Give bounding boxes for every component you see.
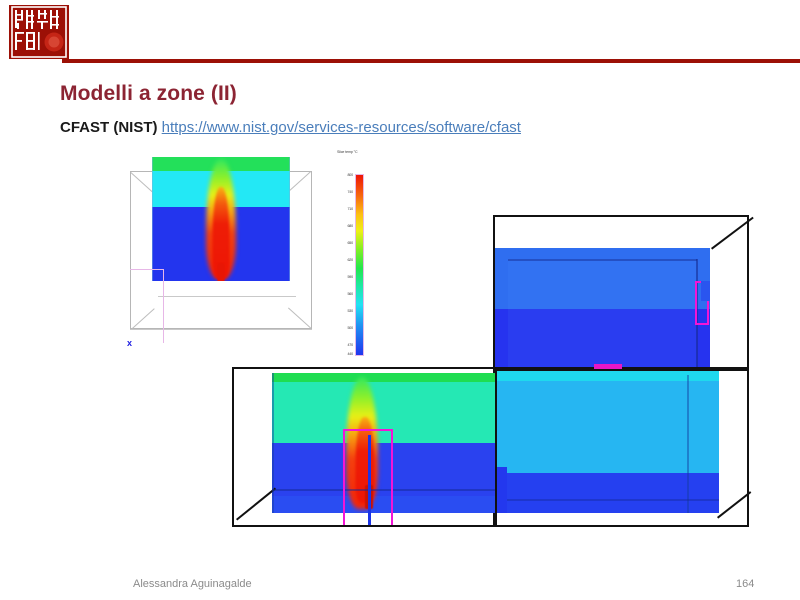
colorbar-tick-10: 470 bbox=[336, 343, 353, 347]
header-divider bbox=[62, 59, 800, 63]
lower-left-hot-layer bbox=[272, 373, 495, 382]
colorbar-tick-2: 710 bbox=[336, 207, 353, 211]
colorbar-tick-6: 590 bbox=[336, 275, 353, 279]
colorbar-tick-1: 740 bbox=[336, 190, 353, 194]
cfast-lower-right-room bbox=[495, 367, 749, 527]
colorbar-tick-4: 650 bbox=[336, 241, 353, 245]
colorbar-gradient-strip bbox=[355, 174, 364, 356]
axis-guide-horizontal bbox=[130, 269, 164, 270]
axis-origin-marker: x bbox=[127, 340, 134, 347]
cfast-single-room-front-view: x bbox=[124, 157, 326, 357]
cfast-upper-right-room bbox=[493, 215, 749, 371]
colorbar-tick-11: 440 bbox=[336, 352, 353, 356]
cfast-lower-left-room bbox=[232, 367, 495, 527]
lower-left-blue-post bbox=[368, 435, 371, 525]
footer-page-number: 164 bbox=[736, 578, 754, 590]
lower-right-upper-layer bbox=[497, 381, 719, 473]
subtitle-line: CFAST (NIST) https://www.nist.gov/servic… bbox=[60, 119, 521, 136]
page-title: Modelli a zone (II) bbox=[60, 82, 237, 106]
axis-guide-vertical bbox=[163, 269, 164, 343]
colorbar-tick-5: 620 bbox=[336, 258, 353, 262]
lower-right-inner-edge-right bbox=[687, 375, 689, 513]
lower-right-ceiling-band bbox=[497, 371, 719, 381]
colorbar-tick-3: 680 bbox=[336, 224, 353, 228]
colorbar-tick-0: 800 bbox=[336, 173, 353, 177]
colorbar-tick-9: 500 bbox=[336, 326, 353, 330]
slide-header bbox=[0, 0, 800, 72]
subtitle-prefix: CFAST (NIST) bbox=[60, 119, 158, 136]
colorbar-title: Slice temp °C bbox=[337, 150, 367, 154]
inner-wall-edge-left bbox=[152, 157, 153, 281]
upper-room-back-upper-layer bbox=[508, 259, 697, 309]
seal-stamp-logo bbox=[8, 4, 70, 60]
upper-room-inner-edge-ceiling bbox=[508, 259, 697, 261]
lower-right-ceiling-vent bbox=[594, 364, 622, 369]
lower-right-inner-edge-floor bbox=[497, 499, 719, 501]
upper-room-back-lower-layer bbox=[508, 309, 697, 369]
lower-right-lower-layer bbox=[497, 473, 719, 513]
floor-line-front bbox=[130, 329, 312, 330]
lower-left-inner-edge-left bbox=[272, 373, 274, 513]
fire-source-stem bbox=[218, 263, 225, 281]
floor-line-back bbox=[158, 296, 296, 297]
upper-room-door-blue-fill bbox=[701, 281, 710, 301]
upper-room-back-wall bbox=[508, 259, 697, 369]
lower-right-room-gas-layers bbox=[497, 371, 719, 513]
inner-wall-edge-right bbox=[289, 157, 290, 281]
colorbar-tick-7: 560 bbox=[336, 292, 353, 296]
cfast-figure: x Slice temp °C 800 740 710 680 650 620 … bbox=[0, 145, 800, 555]
cfast-link[interactable]: https://www.nist.gov/services-resources/… bbox=[162, 119, 521, 136]
single-room-gas-layers bbox=[152, 157, 290, 281]
footer-author: Alessandra Aguinagalde bbox=[133, 578, 252, 590]
colorbar-tick-8: 530 bbox=[336, 309, 353, 313]
temperature-colorbar-legend: Slice temp °C 800 740 710 680 650 620 59… bbox=[336, 150, 376, 365]
lower-right-wall-post bbox=[497, 467, 507, 513]
